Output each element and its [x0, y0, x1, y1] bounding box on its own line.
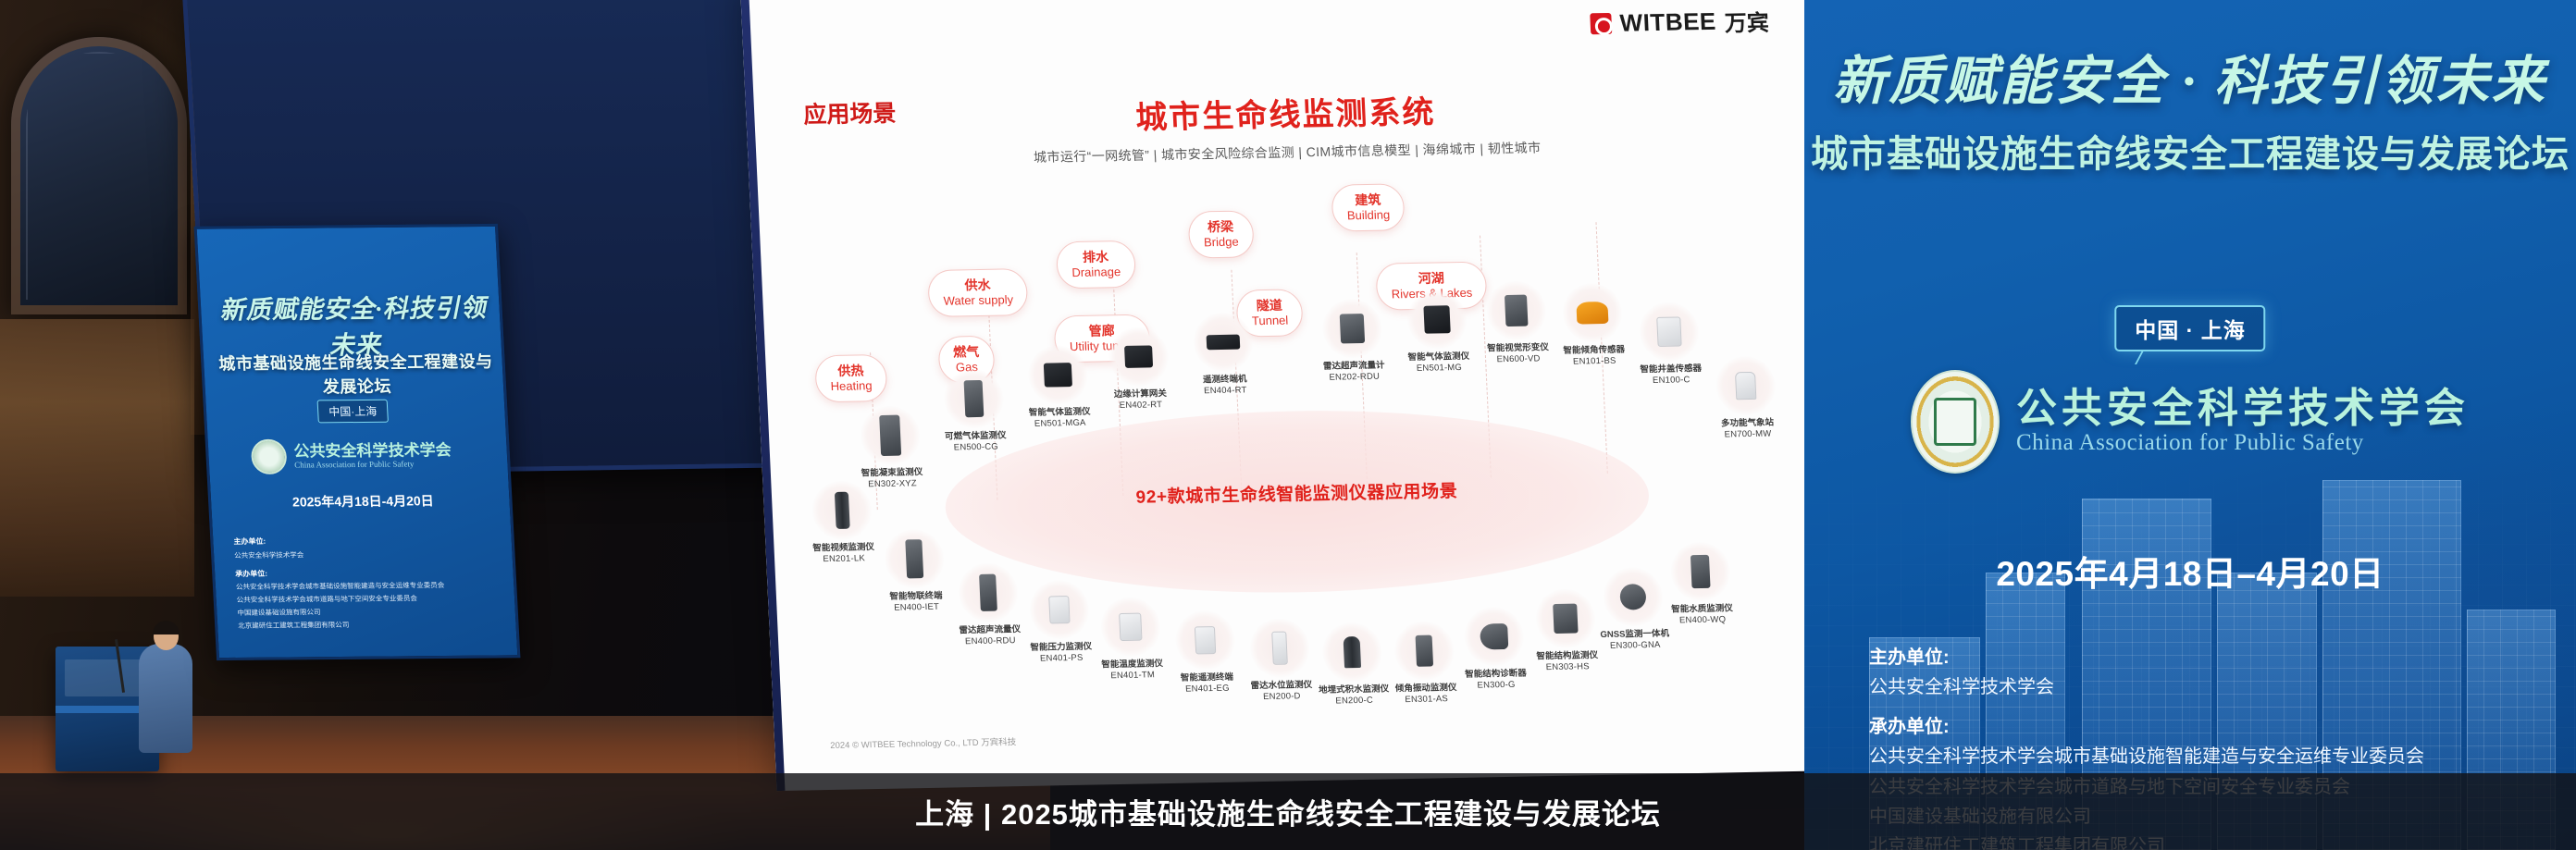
association-seal-icon [251, 439, 288, 474]
banner-location-chip: 中国 · 上海 [2114, 305, 2265, 351]
brand-name-en: WITBEE [1619, 7, 1717, 38]
device-node: 遥测终端机 EN404-RT [1170, 312, 1277, 397]
scenario-pill-drainage: 排水 Drainage [1056, 240, 1136, 289]
device-image [1638, 302, 1700, 362]
banner-association-en: China Association for Public Safety [2016, 430, 2470, 456]
banner-event-date: 2025年4月18日–4月20日 [1804, 546, 2576, 596]
device-sku: EN500-CG [924, 441, 1029, 453]
pill-label-cn: 河湖 [1391, 270, 1472, 288]
side-banner-host: 公共安全科学技术学会 [234, 547, 503, 561]
device-image [943, 368, 1005, 428]
scenario-pill-bridge: 桥梁 Bridge [1188, 210, 1255, 258]
device-image [1485, 280, 1547, 340]
device-sku: EN400-WQ [1651, 614, 1755, 626]
pill-label-en: Building [1347, 208, 1391, 224]
scenario-pill-building: 建筑 Building [1331, 183, 1406, 231]
device-sku: EN300-G [1444, 679, 1549, 691]
brand-name-cn: 万宾 [1724, 5, 1770, 38]
device-node: 智能水质监测仪 EN400-WQ [1647, 541, 1754, 626]
scenario-pill-water-supply: 供水 Water supply [927, 268, 1029, 317]
device-sku: EN700-MW [1696, 428, 1801, 440]
screenshot-stage: 新质赋能安全·科技引领未来 城市基础设施生命线安全工程建设与发展论坛 中国·上海… [0, 0, 2576, 850]
banner-calligraphy-title: 新质赋能安全 · 科技引领未来 [1804, 39, 2576, 115]
pill-label-cn: 供水 [943, 277, 1013, 294]
device-image [1715, 355, 1777, 415]
side-banner-association-en: China Association for Public Safety [294, 459, 452, 469]
scenario-pill-heating: 供热 Heating [814, 354, 887, 402]
witbee-logo: WITBEE 万宾 [1590, 5, 1770, 41]
device-sku: EN404-RT [1173, 385, 1278, 397]
host-label: 主办单位: [1869, 643, 2545, 672]
witbee-mark-icon [1590, 13, 1612, 34]
side-banner-organizer: 北京建研住工建筑工程集团有限公司 [238, 618, 507, 633]
banner-association-cn: 公共安全科学技术学会 [2016, 388, 2470, 430]
caption-text: 上海 | 2025城市基础设施生命线安全工程建设与发展论坛 [915, 791, 1661, 832]
device-image [1192, 312, 1254, 372]
device-sku: EN300-GNA [1583, 639, 1688, 651]
presentation-slide: WITBEE 万宾 应用场景 城市生命线监测系统 城市运行“一网统管” | 城市… [740, 0, 1855, 791]
device-sku: EN303-HS [1516, 661, 1620, 673]
pill-label-en: Heating [830, 378, 873, 394]
stage-side-banner: 新质赋能安全·科技引领未来 城市基础设施生命线安全工程建设与发展论坛 中国·上海… [194, 224, 521, 660]
video-caption-bar: 上海 | 2025城市基础设施生命线安全工程建设与发展论坛 [0, 773, 2576, 850]
device-sku: EN501-MGA [1008, 417, 1112, 429]
banner-association-block: 公共安全科学技术学会 China Association for Public … [1804, 370, 2576, 474]
device-image [1321, 299, 1383, 359]
pill-label-en: Drainage [1071, 265, 1121, 280]
device-image [860, 405, 922, 465]
slide-footer-copyright: 2024 © WITBEE Technology Co., LTD 万宾科技 [830, 734, 1017, 751]
caps-seal-icon [1911, 370, 2000, 474]
side-banner-organizers: 主办单位: 公共安全科学技术学会 承办单位: 公共安全科学技术学会城市基础设施智… [233, 528, 507, 633]
device-image [1108, 326, 1170, 387]
pill-label-cn: 建筑 [1346, 192, 1390, 209]
device-image [1669, 541, 1731, 601]
side-banner-date: 2025年4月18日-4月20日 [211, 490, 515, 511]
pill-label-cn: 燃气 [953, 344, 980, 361]
pill-label-cn: 桥梁 [1203, 219, 1238, 236]
device-node: 多功能气象站 EN700-MW [1692, 355, 1800, 440]
wall-panel [0, 319, 194, 597]
device-image [1561, 283, 1623, 343]
device-image [1027, 345, 1089, 405]
arched-window [11, 37, 187, 314]
device-image [1406, 289, 1468, 350]
side-banner-subtitle: 城市基础设施生命线安全工程建设与发展论坛 [211, 349, 502, 400]
organizer-name: 公共安全科学技术学会城市基础设施智能建造与安全运维专业委员会 [1869, 742, 2545, 771]
side-banner-location-chip: 中国·上海 [317, 400, 389, 424]
side-banner-association: 公共安全科学技术学会 China Association for Public … [251, 437, 452, 474]
pill-label-cn: 排水 [1071, 249, 1121, 265]
device-sku: EN301-AS [1374, 693, 1479, 705]
presenter-hair [153, 621, 180, 634]
podium-nameplate [65, 659, 150, 696]
banner-forum-title: 城市基础设施生命线安全工程建设与发展论坛 [1804, 124, 2576, 178]
presenter-figure [139, 644, 192, 753]
host-name: 公共安全科学技术学会 [1869, 672, 2545, 702]
organizer-label: 承办单位: [1869, 712, 2545, 742]
side-banner-association-cn: 公共安全科学技术学会 [293, 442, 452, 461]
conference-banner: 新质赋能安全 · 科技引领未来 城市基础设施生命线安全工程建设与发展论坛 中国 … [1804, 0, 2576, 850]
device-sku: EN402-RT [1089, 399, 1194, 411]
pill-label-cn: 供热 [830, 363, 873, 379]
pill-label-en: Water supply [943, 292, 1013, 308]
pill-label-en: Bridge [1204, 235, 1239, 251]
